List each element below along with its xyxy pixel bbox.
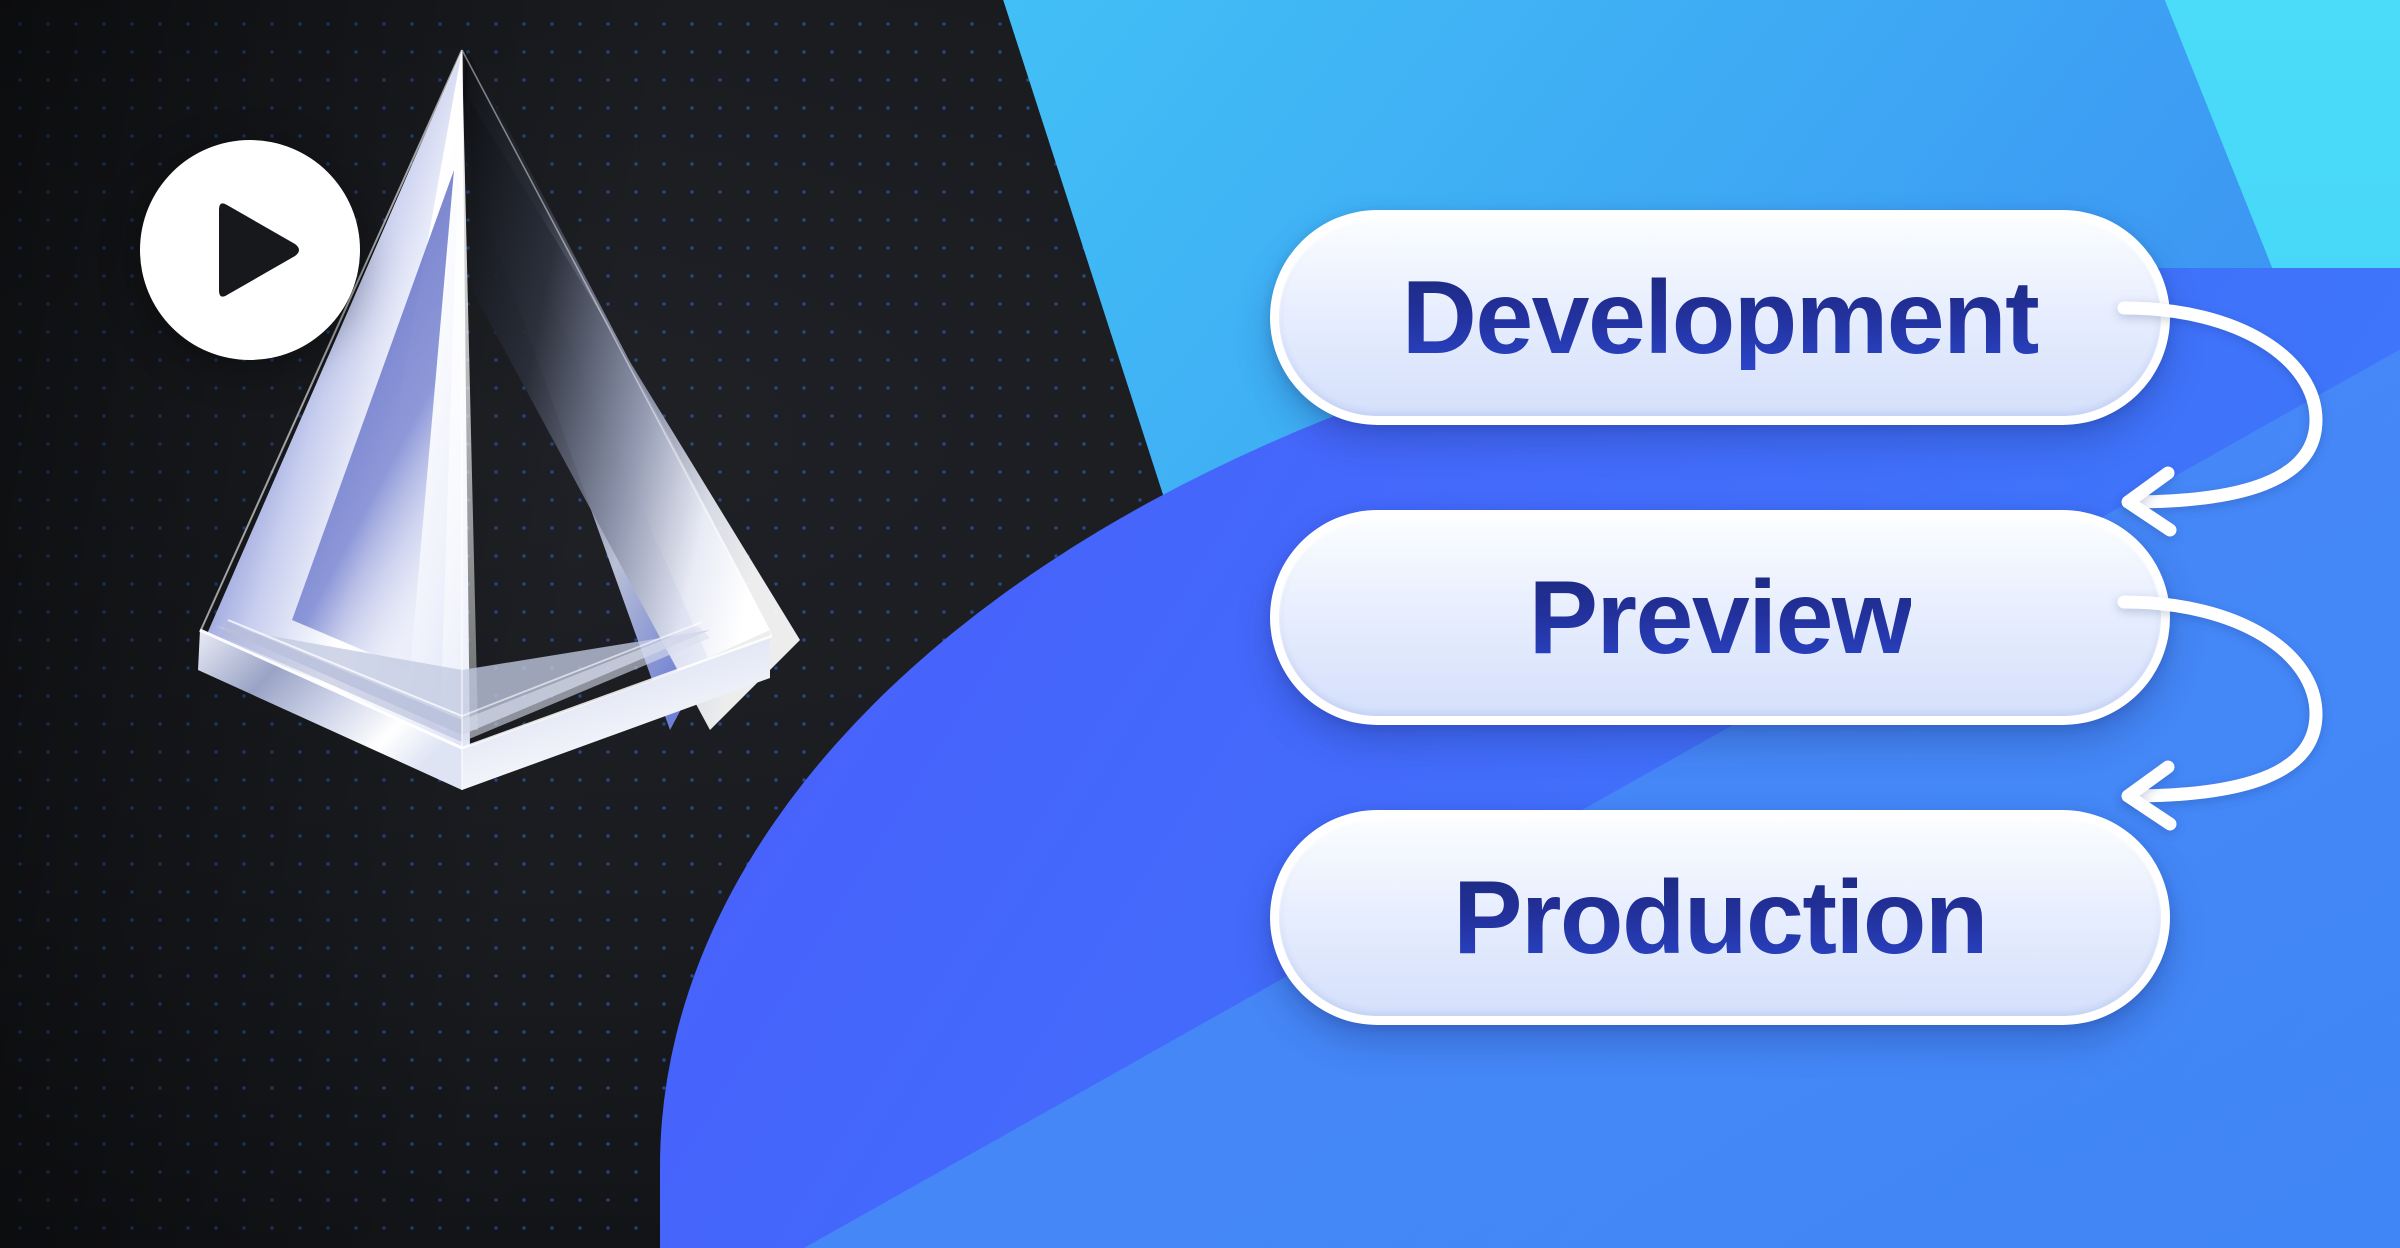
pill-development[interactable]: Development: [1270, 210, 2170, 425]
play-icon: [209, 198, 305, 302]
pill-development-label: Development: [1402, 266, 2039, 370]
pill-production-label: Production: [1453, 866, 1987, 970]
pill-preview[interactable]: Preview: [1270, 510, 2170, 725]
pill-production-surface: Production: [1279, 819, 2161, 1016]
environment-pill-list: Development Preview Production: [1270, 210, 2170, 1110]
hero-banner: Development Preview Production: [0, 0, 2400, 1248]
pill-development-surface: Development: [1279, 219, 2161, 416]
play-button[interactable]: [140, 140, 360, 360]
pill-production[interactable]: Production: [1270, 810, 2170, 1025]
pill-preview-surface: Preview: [1279, 519, 2161, 716]
pill-preview-label: Preview: [1529, 566, 1912, 670]
